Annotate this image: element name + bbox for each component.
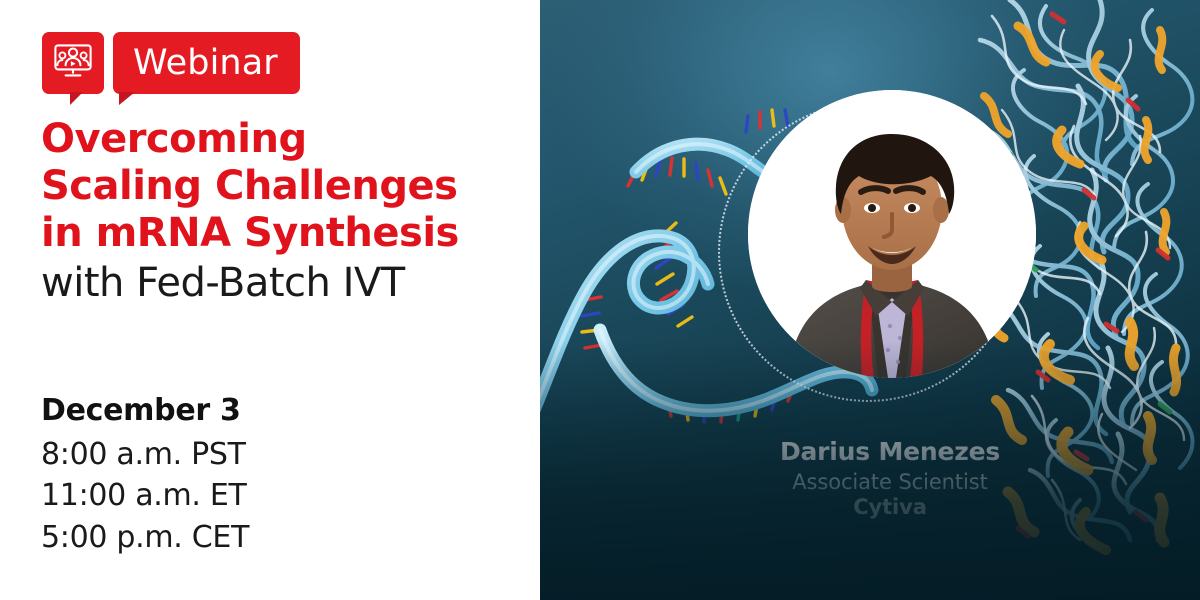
headline-line-2: Scaling Challenges	[41, 163, 511, 210]
headline-line-1: Overcoming	[41, 116, 511, 163]
artwork-panel: Darius Menezes Associate Scientist Cytiv…	[540, 0, 1200, 600]
schedule-block: December 3 8:00 a.m. PST 11:00 a.m. ET 5…	[41, 392, 511, 558]
webinar-icon-bubble	[42, 32, 104, 94]
headline-line-3: in mRNA Synthesis	[41, 210, 511, 257]
left-content-panel: Webinar Overcoming Scaling Challenges in…	[0, 0, 540, 600]
webinar-promo-banner: Webinar Overcoming Scaling Challenges in…	[0, 0, 1200, 600]
webinar-date: December 3	[41, 392, 511, 430]
headline-subline: with Fed-Batch IVT	[41, 260, 511, 307]
webinar-badge-label: Webinar	[133, 46, 278, 81]
webinar-time-cet: 5:00 p.m. CET	[41, 517, 511, 558]
webinar-screen-people-play-icon	[54, 44, 92, 82]
speaker-name: Darius Menezes	[670, 437, 1110, 468]
speaker-headshot-photo	[748, 90, 1036, 378]
speaker-organization: Cytiva	[670, 495, 1110, 521]
webinar-badge: Webinar	[42, 32, 300, 94]
webinar-time-et: 11:00 a.m. ET	[41, 475, 511, 516]
speaker-caption: Darius Menezes Associate Scientist Cytiv…	[670, 437, 1110, 521]
webinar-label-bubble: Webinar	[113, 32, 300, 94]
speaker-avatar	[748, 90, 1036, 378]
webinar-time-pst: 8:00 a.m. PST	[41, 434, 511, 475]
headline-block: Overcoming Scaling Challenges in mRNA Sy…	[41, 116, 511, 307]
speaker-role: Associate Scientist	[670, 470, 1110, 496]
